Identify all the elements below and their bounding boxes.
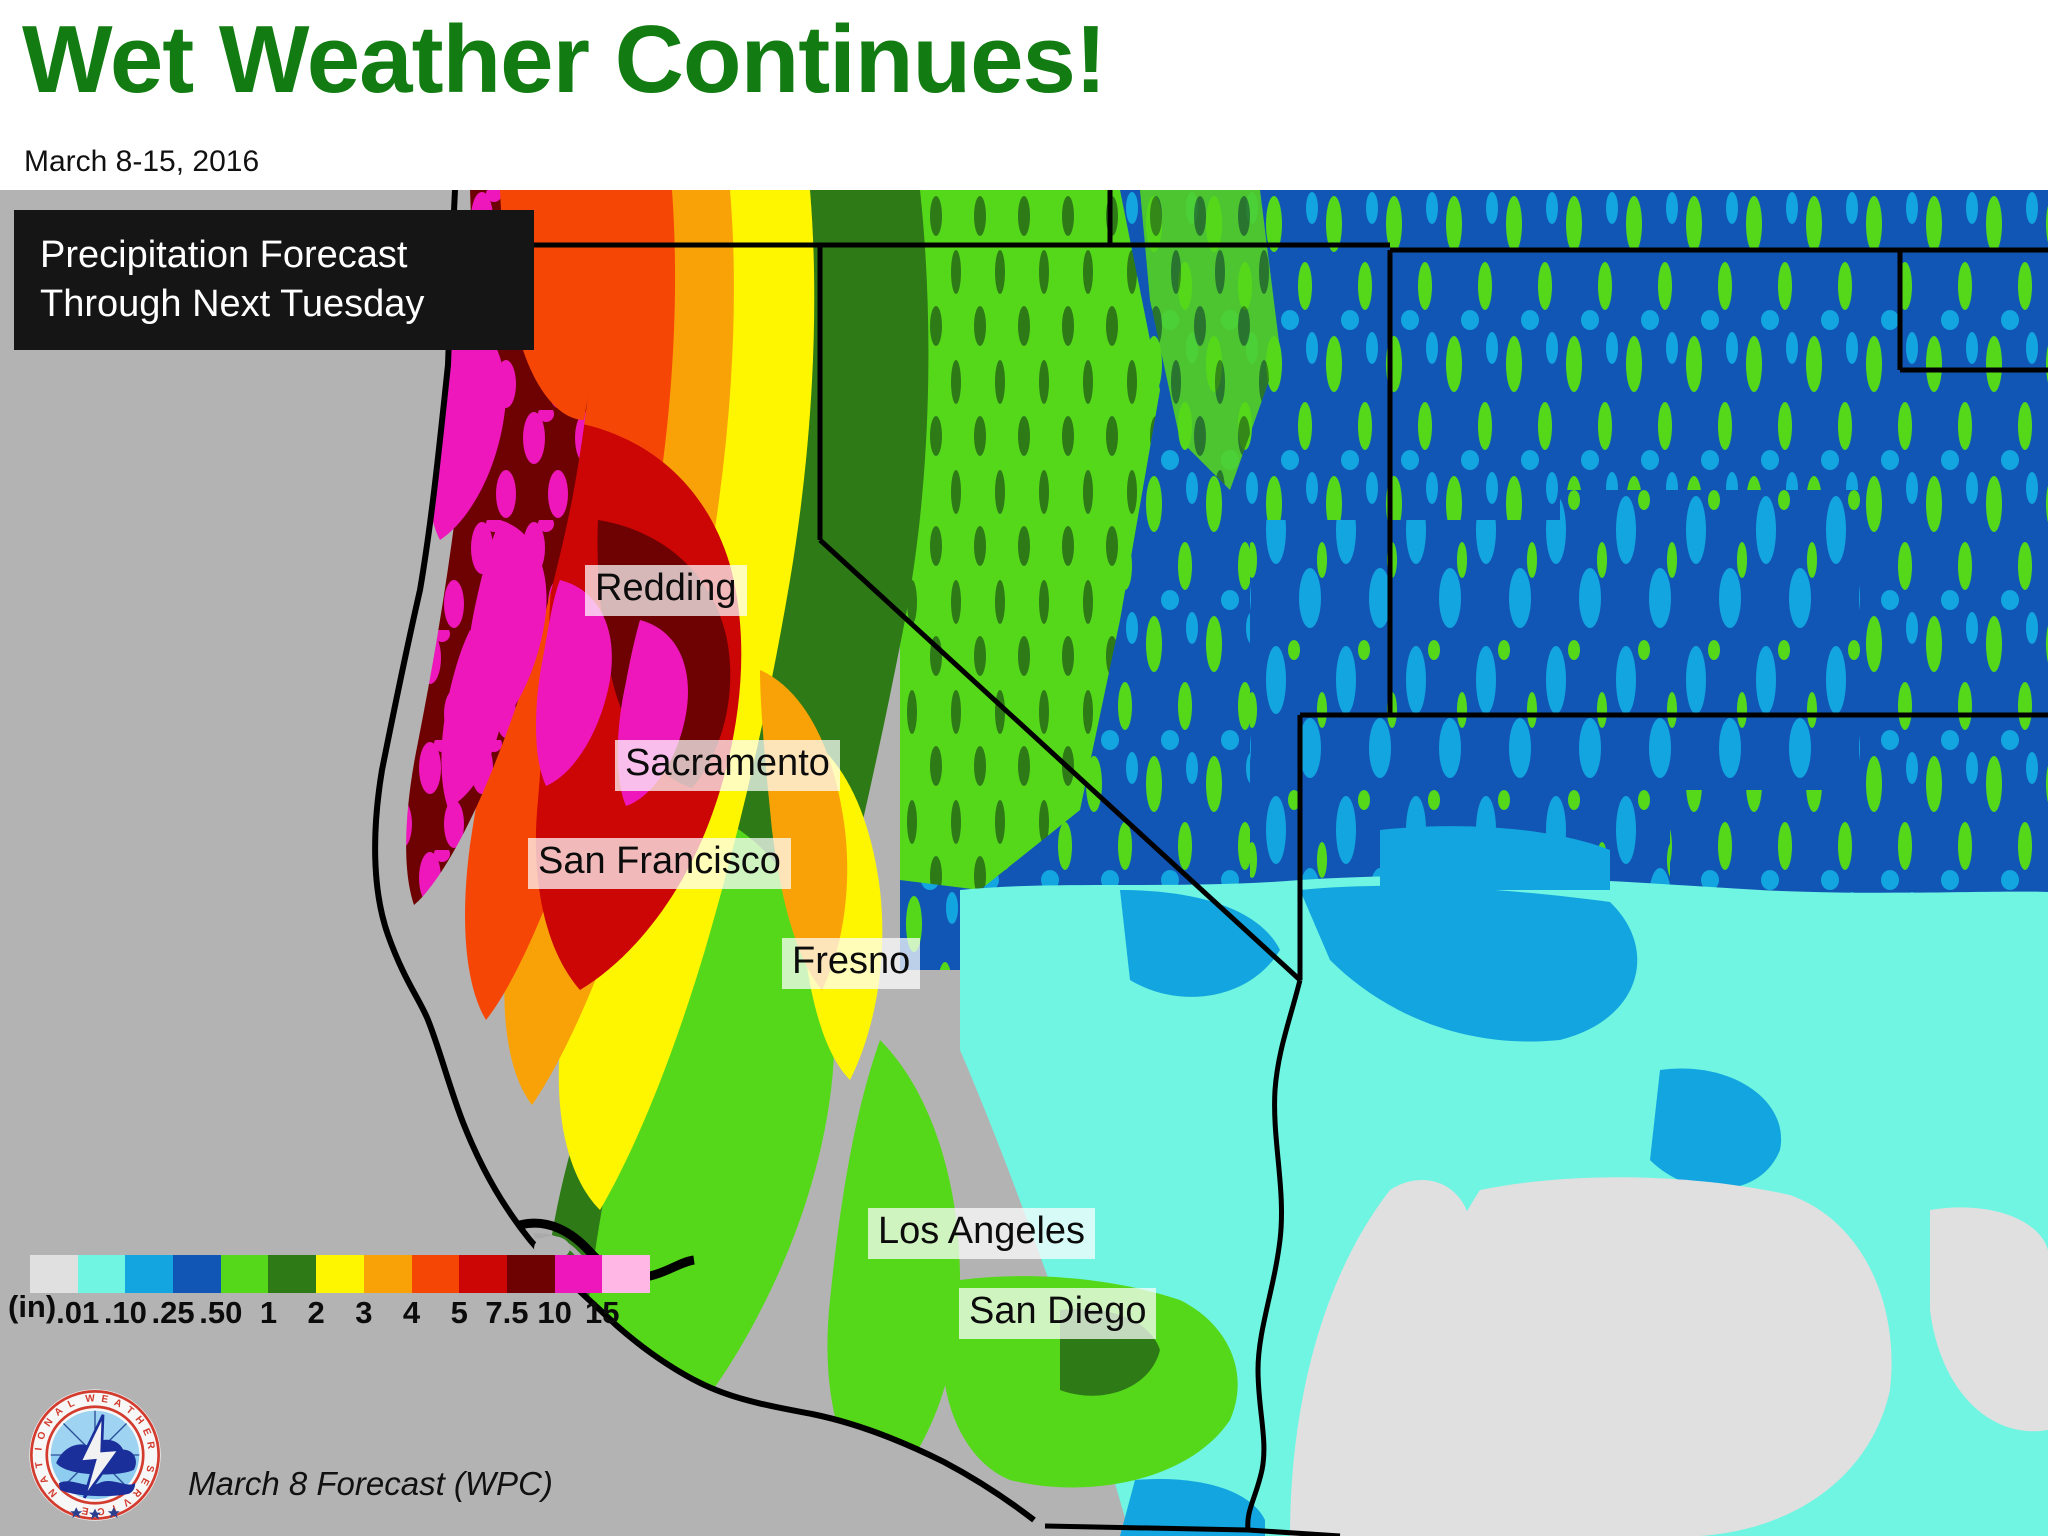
legend-tick-.25: .25	[152, 1295, 195, 1331]
city-label-san-diego: San Diego	[959, 1288, 1156, 1339]
legend-colorbar: .01.10.25.50123457.51015	[30, 1255, 690, 1339]
legend-tick-1: 1	[260, 1295, 277, 1331]
legend-swatch-6	[316, 1255, 364, 1293]
city-label-san-francisco: San Francisco	[528, 838, 791, 889]
nws-logo-icon: N A T I O N A L W E A T H E R S E R V I …	[28, 1388, 162, 1522]
caption-line-2: Through Next Tuesday	[40, 280, 534, 329]
weather-graphic: Wet Weather Continues! March 8-15, 2016	[0, 0, 2048, 1536]
legend-swatch-5	[268, 1255, 316, 1293]
legend-swatch-4	[221, 1255, 269, 1293]
legend-tick-3: 3	[355, 1295, 372, 1331]
city-label-los-angeles: Los Angeles	[868, 1208, 1095, 1259]
legend-swatch-1	[78, 1255, 126, 1293]
legend-tick-15: 15	[585, 1295, 619, 1331]
page-title: Wet Weather Continues!	[22, 10, 1106, 111]
legend-swatch-2	[125, 1255, 173, 1293]
legend-swatch-10	[507, 1255, 555, 1293]
caption-line-1: Precipitation Forecast	[40, 231, 534, 280]
legend-swatch-8	[412, 1255, 460, 1293]
legend-tick-.50: .50	[199, 1295, 242, 1331]
legend-swatch-3	[173, 1255, 221, 1293]
legend-tick-4: 4	[403, 1295, 420, 1331]
legend-swatch-12	[602, 1255, 650, 1293]
legend-tick-.10: .10	[104, 1295, 147, 1331]
legend-swatch-9	[459, 1255, 507, 1293]
date-range: March 8-15, 2016	[24, 145, 259, 179]
city-label-fresno: Fresno	[782, 938, 920, 989]
legend-swatch-0	[30, 1255, 78, 1293]
legend-labels: .01.10.25.50123457.51015	[30, 1295, 690, 1339]
caption-box: Precipitation Forecast Through Next Tues…	[14, 210, 534, 350]
forecast-source-note: March 8 Forecast (WPC)	[188, 1465, 553, 1503]
legend-tick-2: 2	[308, 1295, 325, 1331]
legend-tick-7.5: 7.5	[485, 1295, 528, 1331]
legend-swatches	[30, 1255, 650, 1293]
legend-tick-10: 10	[537, 1295, 571, 1331]
city-label-sacramento: Sacramento	[615, 740, 840, 791]
legend-tick-.01: .01	[56, 1295, 99, 1331]
legend-swatch-11	[555, 1255, 603, 1293]
header: Wet Weather Continues! March 8-15, 2016	[0, 0, 2048, 190]
city-label-redding: Redding	[585, 565, 747, 616]
legend-swatch-7	[364, 1255, 412, 1293]
svg-text:W: W	[85, 1393, 96, 1405]
legend-tick-5: 5	[451, 1295, 468, 1331]
legend-unit-label: (in)	[8, 1289, 56, 1325]
